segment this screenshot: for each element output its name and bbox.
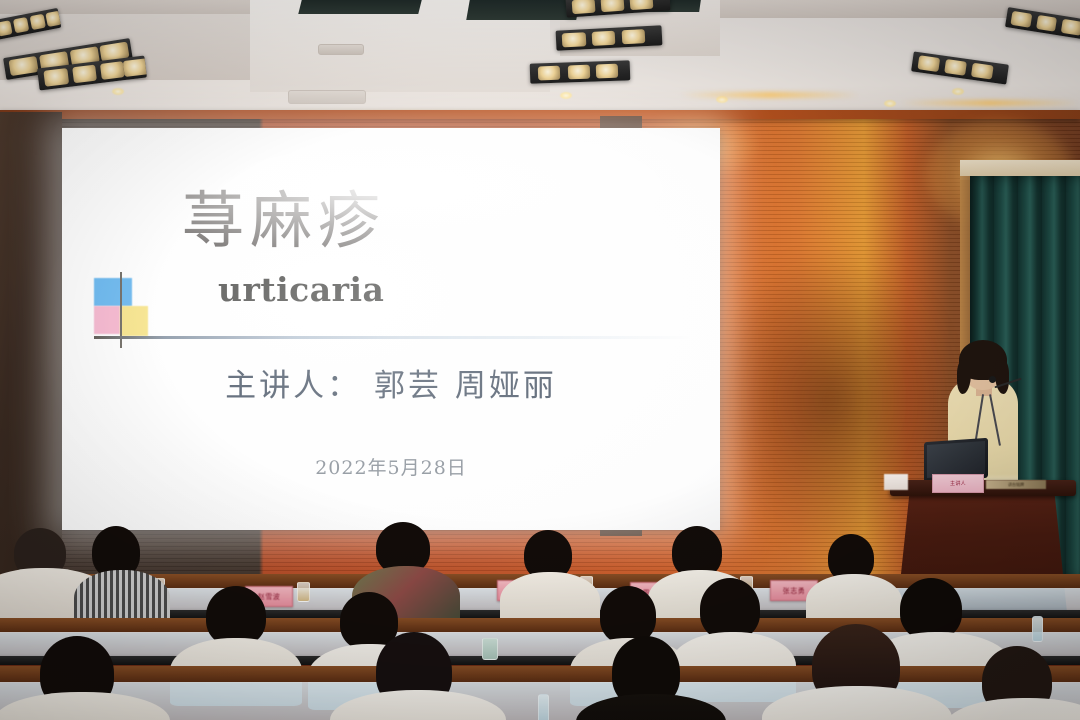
audience-head-7 [206, 586, 266, 646]
podium-label-strip: 讲台铭牌 [986, 480, 1046, 489]
logo-square-pink [94, 306, 120, 334]
water-bottle-front [538, 694, 549, 720]
podium-nameplate: 主讲人 [932, 474, 984, 493]
screen-glare [62, 128, 720, 278]
laptop-screen[interactable] [927, 441, 985, 478]
slide-title: 荨麻疹 [182, 190, 386, 252]
water-glass-2 [297, 582, 310, 602]
wall-left-dark-panel [0, 112, 62, 580]
audience-area: 赵雪波 何浩峰 周娅丽 张志勇 [0, 520, 1080, 720]
slide-presenter-line: 主讲人： 郭芸 周娅丽 [62, 360, 720, 405]
speaker-hair-right [995, 360, 1009, 394]
spotlight-rail-8 [911, 51, 1009, 84]
downlight-1 [112, 88, 124, 95]
ceiling [0, 0, 1080, 122]
paper-cup-1 [482, 638, 498, 660]
desk-row-3-wood [0, 666, 1080, 682]
soffit-glow-2 [900, 100, 1080, 106]
lecture-hall-photo: 荨麻疹 urticaria 主讲人： 郭芸 周娅丽 2022年5月28日 [0, 0, 1080, 720]
slide-surface: 荨麻疹 urticaria 主讲人： 郭芸 周娅丽 2022年5月28日 [62, 128, 720, 530]
audience-head-10 [700, 578, 760, 640]
ceiling-dark-recess-2 [466, 0, 580, 20]
audience-head-11 [900, 578, 962, 640]
downlight-2 [560, 92, 572, 99]
logo-square-blue [94, 278, 132, 306]
slide-subtitle: urticaria [218, 270, 384, 309]
ceiling-vent-2 [288, 90, 366, 104]
logo-square-yellow [120, 306, 148, 336]
downlight-4 [884, 100, 896, 107]
soffit-glow-1 [680, 92, 860, 98]
ceiling-dark-recess-1 [298, 0, 421, 14]
ceiling-vent-1 [318, 44, 364, 55]
water-bottle-right [1032, 616, 1043, 642]
spotlight-rail-6 [530, 60, 631, 83]
wall-top-trim [0, 110, 1080, 119]
podium-paper [884, 474, 908, 490]
three-square-logo [90, 276, 158, 342]
slide-date: 2022年5月28日 [62, 453, 720, 480]
projection-screen: 荨麻疹 urticaria 主讲人： 郭芸 周娅丽 2022年5月28日 [62, 128, 720, 530]
slide-divider-rule [94, 336, 690, 339]
microphone-icon [989, 376, 996, 383]
downlight-5 [952, 88, 964, 95]
